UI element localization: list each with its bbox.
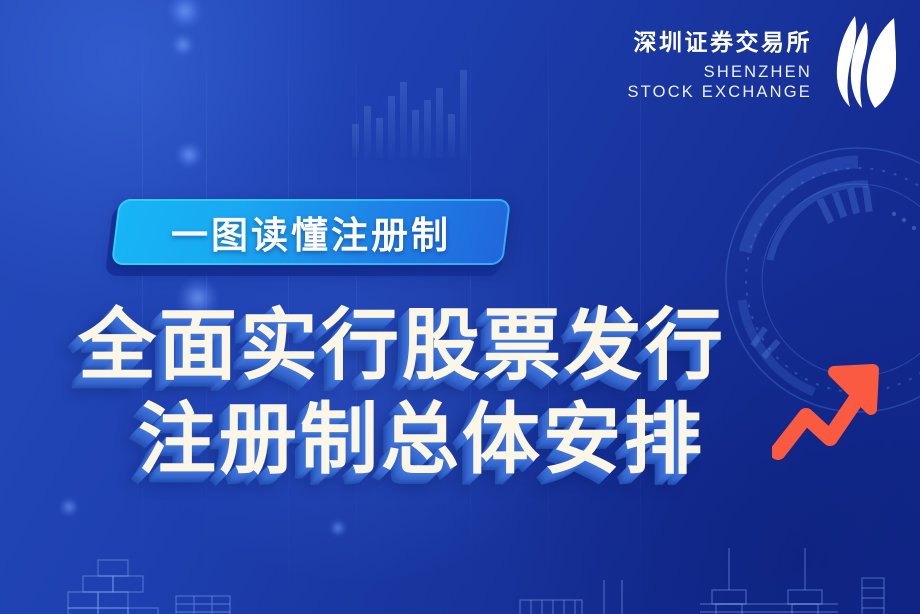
bar-chart-bar (364, 106, 371, 158)
headline-group: 全面实行股票发行 注册制总体安排 (78, 306, 868, 478)
shenzhen-stock-exchange-leaf-mark-icon (822, 12, 896, 112)
bar-chart-bar (400, 82, 407, 158)
badge-one-picture[interactable]: 一图读懂注册制 (115, 199, 510, 271)
bokeh-dot (168, 0, 202, 28)
logo-name-cn: 深圳证券交易所 (627, 28, 812, 57)
bokeh-dot (172, 34, 194, 56)
headline-line-1: 全面实行股票发行 (78, 306, 868, 384)
city-skyline-lineart-icon (0, 534, 920, 614)
bar-chart-silhouette-icon (352, 66, 472, 158)
bar-chart-bar (448, 114, 455, 158)
bokeh-dot (60, 498, 78, 516)
bar-chart-bar (412, 110, 419, 158)
bar-chart-bar (376, 118, 383, 158)
bokeh-dot (176, 142, 202, 168)
logo-name-en-line2: STOCK EXCHANGE (627, 82, 812, 102)
poster-canvas: 深圳证券交易所 SHENZHEN STOCK EXCHANGE 一图读懂注册制 … (0, 0, 920, 614)
bar-chart-bar (436, 88, 443, 158)
bokeh-dot (330, 520, 346, 536)
badge-label: 一图读懂注册制 (115, 199, 507, 265)
logo-name-en-line1: SHENZHEN (627, 62, 812, 82)
headline-line-2: 注册制总体安排 (138, 400, 868, 478)
bar-chart-bar (424, 100, 431, 158)
bar-chart-bar (388, 96, 395, 158)
sse-logo: 深圳证券交易所 SHENZHEN STOCK EXCHANGE (627, 12, 896, 112)
bar-chart-bar (460, 70, 467, 158)
upward-trend-arrow-icon (772, 352, 888, 460)
bar-chart-bar (352, 124, 359, 158)
logo-text-group: 深圳证券交易所 SHENZHEN STOCK EXCHANGE (627, 12, 812, 102)
